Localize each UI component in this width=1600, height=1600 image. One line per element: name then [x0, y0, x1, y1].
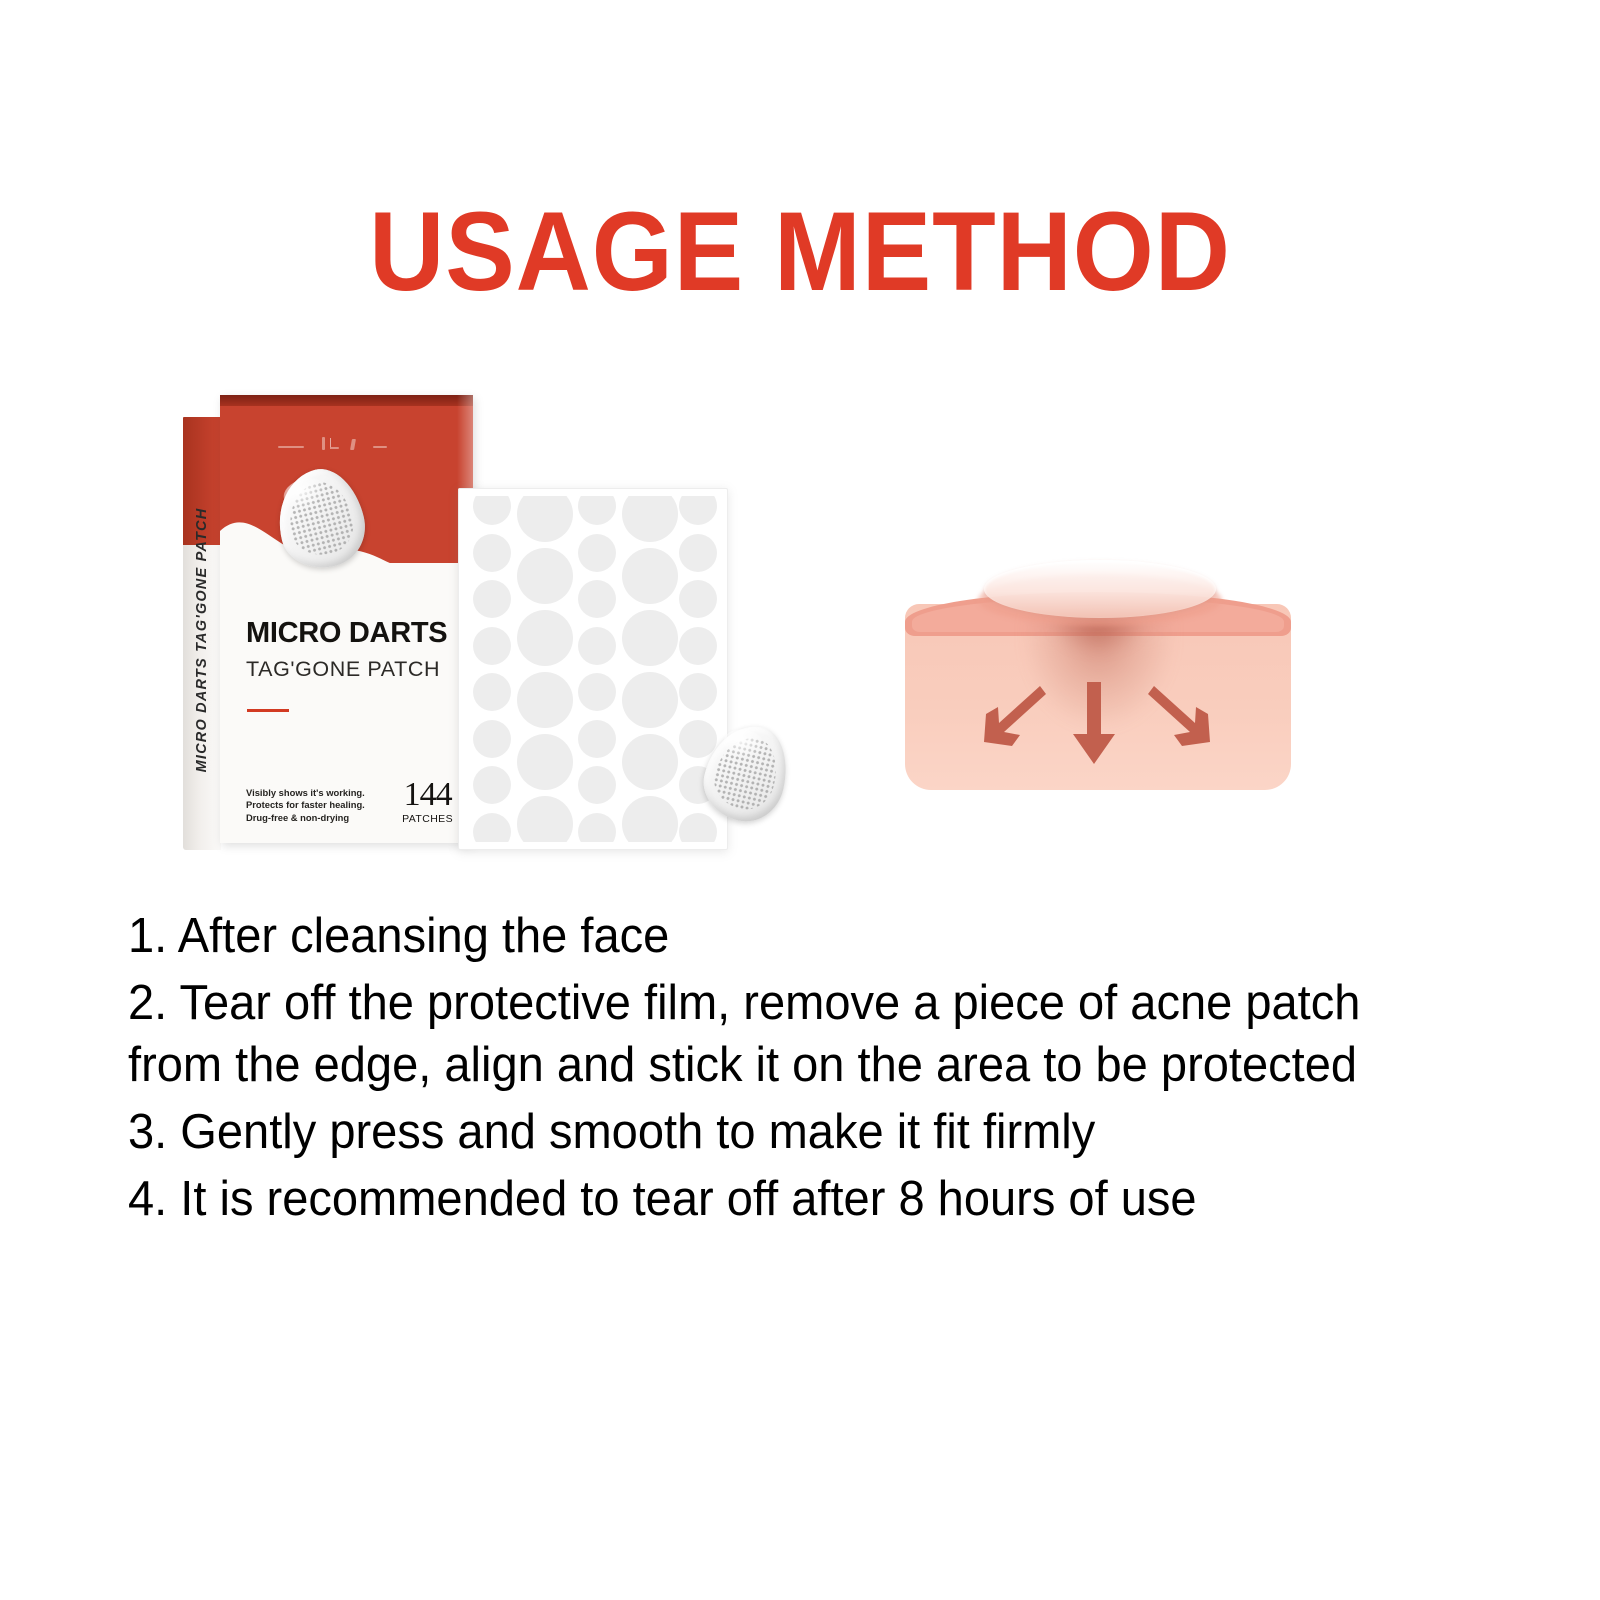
patch-dot	[578, 534, 616, 572]
patch-dot	[473, 627, 511, 665]
patch-dot	[473, 720, 511, 758]
box-patch-count: 144 PATCHES	[402, 778, 453, 825]
patch-dot	[578, 720, 616, 758]
patch-dot	[517, 610, 573, 666]
instruction-step: 4. It is recommended to tear off after 8…	[128, 1168, 1453, 1231]
patch-dot	[679, 673, 717, 711]
skin-cross-section-diagram	[898, 552, 1298, 792]
box-product-name: TAG'GONE PATCH	[246, 657, 440, 682]
patch-dot	[578, 627, 616, 665]
patch-dot	[578, 496, 616, 525]
patch-dot	[679, 627, 717, 665]
box-tagline: Visibly shows it's working. Protects for…	[246, 787, 378, 824]
patch-dot	[679, 496, 717, 525]
instructions-list: 1. After cleansing the face 2. Tear off …	[128, 905, 1508, 1235]
patch-dot	[517, 796, 573, 842]
patch-sheet	[458, 488, 728, 850]
patch-dot	[622, 796, 678, 842]
patch-dot	[622, 496, 678, 542]
patch-dot	[473, 496, 511, 525]
box-count-label: PATCHES	[402, 813, 453, 825]
patch-dot	[622, 734, 678, 790]
instruction-step: 1. After cleansing the face	[128, 905, 1453, 968]
box-front-panel: MICRO DARTS TAG'GONE PATCH Visibly shows…	[220, 395, 473, 843]
patch-dot	[622, 672, 678, 728]
box-brand-title: MICRO DARTS	[246, 617, 447, 650]
patch-dot	[622, 548, 678, 604]
patch-dot	[517, 734, 573, 790]
brand-logo-mark	[278, 435, 408, 452]
box-spine-text: MICRO DARTS TAG'GONE PATCH	[194, 445, 210, 835]
box-spine-panel: MICRO DARTS TAG'GONE PATCH	[183, 417, 221, 850]
patch-dot	[679, 813, 717, 842]
patch-dot	[578, 813, 616, 842]
arrow-down-right-icon	[1146, 680, 1212, 752]
patch-dot	[473, 534, 511, 572]
page-title: USAGE METHOD	[56, 196, 1544, 308]
instruction-step: 2. Tear off the protective film, remove …	[128, 972, 1453, 1097]
patch-dot	[473, 580, 511, 618]
patch-sheet-grid	[466, 496, 720, 842]
product-box: MICRO DARTS TAG'GONE PATCH	[183, 395, 473, 850]
applied-patch-disc	[984, 560, 1216, 618]
patch-dot	[517, 548, 573, 604]
patch-dot	[473, 813, 511, 842]
patch-dot	[679, 534, 717, 572]
box-count-number: 144	[402, 778, 453, 812]
patch-dot	[679, 580, 717, 618]
patch-dot	[578, 580, 616, 618]
patch-dot	[473, 673, 511, 711]
patch-dot	[578, 766, 616, 804]
product-visual-row: MICRO DARTS TAG'GONE PATCH	[0, 380, 1600, 880]
patch-dot	[517, 496, 573, 542]
box-accent-rule	[247, 709, 289, 712]
patch-dot	[517, 672, 573, 728]
arrow-down-icon	[1072, 682, 1116, 768]
patch-dot	[578, 673, 616, 711]
arrow-down-left-icon	[982, 680, 1048, 752]
instruction-step: 3. Gently press and smooth to make it fi…	[128, 1101, 1453, 1164]
box-top-flap	[220, 395, 473, 406]
patch-dot	[622, 610, 678, 666]
patch-dot	[473, 766, 511, 804]
